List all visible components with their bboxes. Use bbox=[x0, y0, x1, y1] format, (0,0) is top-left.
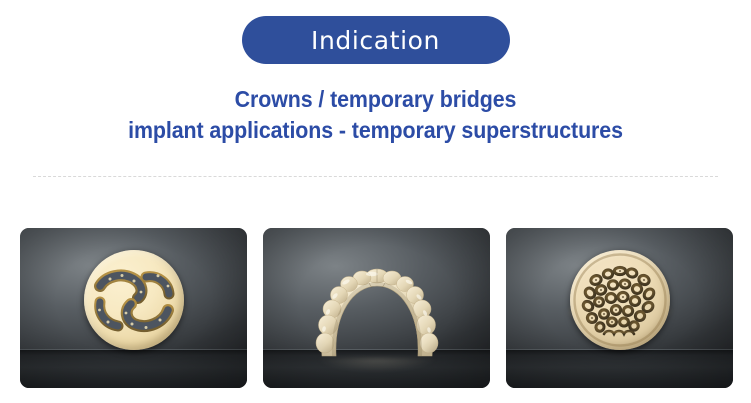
arch-reflection bbox=[302, 358, 452, 376]
indication-headline: Crowns / temporary bridges implant appli… bbox=[26, 84, 724, 146]
gallery-card-milled-crowns-disc[interactable] bbox=[506, 228, 733, 388]
headline-line-1: Crowns / temporary bridges bbox=[26, 84, 724, 115]
card-floor bbox=[506, 350, 733, 388]
full-arch-bridge-image bbox=[302, 252, 452, 364]
header-badge-row: Indication bbox=[0, 16, 751, 64]
milled-crowns-pattern bbox=[570, 250, 670, 350]
milled-crowns-disc-image bbox=[570, 250, 670, 350]
arch-bridge-graphic bbox=[302, 252, 452, 364]
gallery-card-full-arch-bridge[interactable] bbox=[263, 228, 490, 388]
indication-image-gallery bbox=[20, 228, 732, 388]
milled-bridges-disc-image bbox=[84, 250, 184, 350]
milled-bridges-pattern bbox=[84, 250, 184, 350]
section-divider bbox=[33, 176, 718, 177]
headline-line-2: implant applications - temporary superst… bbox=[26, 115, 724, 146]
indication-badge-label: Indication bbox=[311, 28, 440, 53]
indication-badge: Indication bbox=[242, 16, 510, 64]
gallery-card-milled-bridges-disc[interactable] bbox=[20, 228, 247, 388]
card-floor bbox=[20, 350, 247, 388]
